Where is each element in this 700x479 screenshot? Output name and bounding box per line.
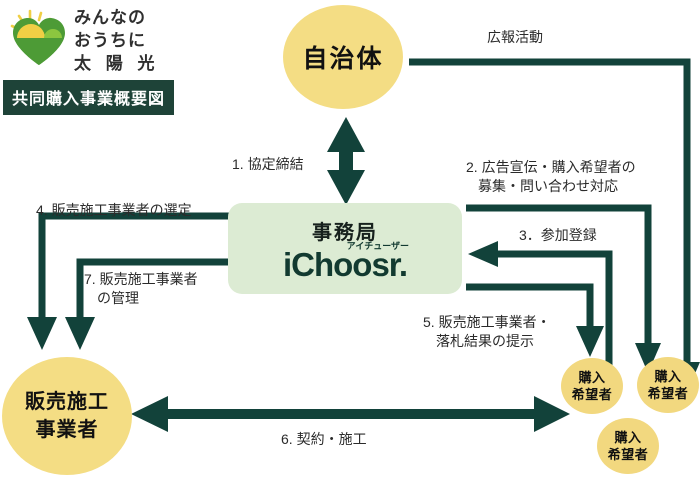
flow-label-step-5-line-2: 落札結果の提示 xyxy=(423,332,551,351)
flow-label-step-2-line-2: 募集・問い合わせ対応 xyxy=(466,177,636,196)
flow-label-step-2: 2. 広告宣伝・購入希望者の 募集・問い合わせ対応 xyxy=(466,158,636,196)
logo-line-1: みんなの xyxy=(74,6,186,29)
logo-line-2: おうちに xyxy=(74,29,186,52)
flow-label-step-2-line-1: 2. 広告宣伝・購入希望者の xyxy=(466,159,636,175)
diagram-canvas: .ar{fill:none;stroke:#12423a;stroke-widt… xyxy=(0,0,700,479)
arrow-gov-office-bidirectional xyxy=(327,117,365,205)
node-secretariat[interactable]: 事務局 アイチューザー iChoosr. xyxy=(228,203,462,294)
flow-label-step-3: 3．参加登録 xyxy=(519,226,597,245)
brand-logo: みんなの おうちに 太 陽 光 xyxy=(8,6,188,78)
node-buyer-2-line-1: 購入 xyxy=(654,369,681,384)
node-contractor-label: 販売施工 事業者 xyxy=(25,388,109,444)
flow-label-step-5: 5. 販売施工事業者・ 落札結果の提示 xyxy=(423,313,551,351)
node-contractor-line-1: 販売施工 xyxy=(25,391,109,413)
sun-over-heart-logo-icon xyxy=(8,8,70,70)
node-buyer-2[interactable]: 購入 希望者 xyxy=(637,357,699,413)
ichoosr-brand: アイチューザー iChoosr. xyxy=(283,246,407,282)
node-buyer-3-line-2: 希望者 xyxy=(608,447,649,462)
node-buyer-3-line-1: 購入 xyxy=(614,430,641,445)
logo-line-3: 太 陽 光 xyxy=(74,52,186,75)
logo-wordmark: みんなの おうちに 太 陽 光 xyxy=(74,6,186,75)
flow-label-step-6: 6. 契約・施工 xyxy=(281,430,367,449)
node-buyer-1[interactable]: 購入 希望者 xyxy=(561,358,623,414)
node-buyer-2-line-2: 希望者 xyxy=(648,386,689,401)
node-buyer-1-line-2: 希望者 xyxy=(572,387,613,402)
node-contractor-line-2: 事業者 xyxy=(36,419,99,441)
flow-label-step-5-line-1: 5. 販売施工事業者・ xyxy=(423,314,551,330)
arrow-contractor-buyers-contract xyxy=(131,396,570,432)
node-buyer-3[interactable]: 購入 希望者 xyxy=(597,418,659,474)
arrow-buyers-to-office-registration xyxy=(468,241,609,374)
flow-label-step-4: 4. 販売施工事業者の選定 xyxy=(36,201,192,220)
node-local-government[interactable]: 自治体 xyxy=(283,5,403,109)
node-buyer-2-label: 購入 希望者 xyxy=(648,368,689,402)
node-buyer-3-label: 購入 希望者 xyxy=(608,429,649,463)
diagram-title-banner: 共同購入事業概要図 xyxy=(3,80,174,115)
node-buyer-1-label: 購入 希望者 xyxy=(572,369,613,403)
node-buyer-1-line-1: 購入 xyxy=(578,370,605,385)
flow-label-step-7-line-1: 7. 販売施工事業者 xyxy=(84,271,198,287)
node-sales-installation-contractor[interactable]: 販売施工 事業者 xyxy=(2,357,132,475)
ichoosr-brand-ruby: アイチューザー xyxy=(347,239,409,252)
flow-label-step-7-line-2: の管理 xyxy=(84,289,198,308)
flow-label-pr: 広報活動 xyxy=(487,28,543,47)
flow-label-step-7: 7. 販売施工事業者 の管理 xyxy=(84,270,198,308)
flow-label-step-1: 1. 協定締結 xyxy=(232,155,304,174)
node-local-government-label: 自治体 xyxy=(302,39,383,75)
